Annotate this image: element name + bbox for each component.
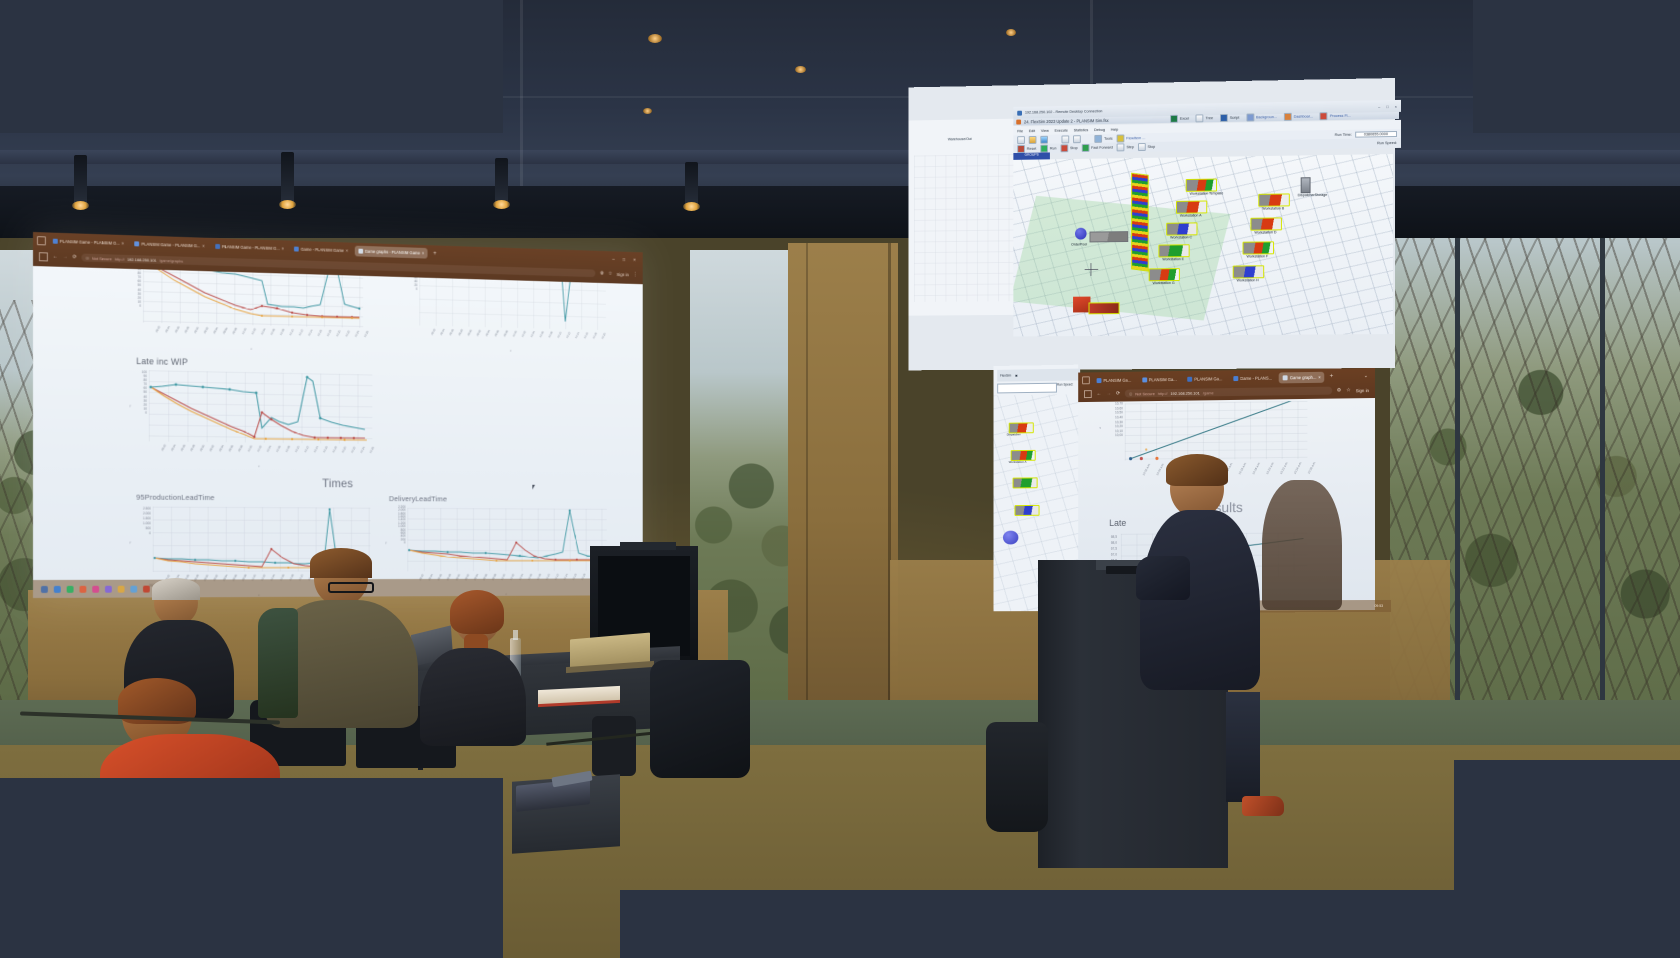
- late-inc-wip-x-axis: 09:4209:44 09:4609:48 09:5009:52 09:5409…: [149, 443, 373, 467]
- dlt-y-label: y: [385, 541, 386, 545]
- plansim-favicon: [294, 247, 299, 252]
- url-scheme: http://: [1158, 390, 1168, 395]
- workstation-c-object[interactable]: [1166, 222, 1197, 235]
- list-all-tabs-icon[interactable]: [37, 236, 46, 245]
- workstation-d-object[interactable]: [1250, 217, 1282, 230]
- tab-label: Game graphs - PLANSIM Game: [365, 249, 420, 256]
- wip-y-axis: 6040200: [408, 275, 417, 291]
- pendant-lamp-2: [281, 152, 294, 204]
- remote-desktop-icon: [1017, 110, 1022, 115]
- workstation-b-object[interactable]: [1258, 193, 1290, 206]
- presenter-hair: [1166, 454, 1228, 486]
- flexsim-icon: [1016, 120, 1021, 125]
- loudspeaker-top: [620, 542, 676, 550]
- presenter-shoe: [1242, 796, 1284, 816]
- taskbar-app-1-icon[interactable]: [54, 585, 61, 592]
- browser-tab[interactable]: Game - PLANSIM Game ×: [290, 244, 351, 257]
- maximize-button[interactable]: □: [623, 257, 626, 263]
- late-plot: [143, 266, 363, 328]
- ceiling-seam-a: [520, 0, 523, 186]
- bookmark-star-icon[interactable]: ☆: [608, 271, 612, 277]
- workstation-e-label: Workstation E: [1162, 257, 1184, 261]
- toolbar-tree[interactable]: Tree: [1196, 114, 1213, 122]
- workstation-g-label: Workstation G: [1153, 281, 1175, 285]
- tools-icon: [1094, 135, 1102, 143]
- play-icon: [1040, 145, 1048, 153]
- menu-file[interactable]: File: [1017, 129, 1023, 133]
- pendant-lamp-3: [495, 158, 508, 204]
- rdp-left-grid: [914, 154, 1013, 302]
- run-button[interactable]: Run: [1040, 144, 1056, 152]
- dispatcher-storage-object[interactable]: [1301, 177, 1311, 193]
- stop-icon: [1060, 144, 1068, 152]
- url-host: 192.168.250.101: [1170, 390, 1199, 395]
- late-inc-wip-y-label: y: [129, 404, 130, 408]
- security-label: Not Secure: [92, 255, 112, 261]
- late-x-axis: 09:4209:44 09:4609:48 09:5009:52 09:5409…: [143, 325, 363, 352]
- sliver-ws-a-label: Workstation A: [1009, 460, 1027, 464]
- redo-icon[interactable]: [1073, 135, 1081, 143]
- participant-2-hair: [310, 548, 372, 578]
- crop-band-bottom-far-right: [1454, 760, 1680, 958]
- menu-edit[interactable]: Edit: [1029, 129, 1035, 133]
- crop-band-top-right: [1473, 0, 1680, 133]
- url-bar[interactable]: ☉ Not Secure http:// 192.168.250.101 /ga…: [1125, 387, 1332, 398]
- ceiling-spot-3: [643, 108, 652, 114]
- browser-tab[interactable]: PLANSIM Game - PLANSIM G... ×: [131, 238, 209, 251]
- axis-gizmo-y: [1090, 263, 1091, 276]
- extensions-icon[interactable]: ⚙: [1337, 387, 1341, 393]
- run-speed-label: Run Speed:: [1377, 141, 1397, 145]
- participant-2-glasses: [328, 582, 374, 593]
- sliver-orderpool[interactable]: [1003, 531, 1018, 545]
- plansim-favicon: [1233, 376, 1238, 381]
- plansim-favicon: [53, 239, 58, 244]
- browser-tab-active[interactable]: Game graph...×: [1279, 371, 1325, 383]
- reload-icon[interactable]: ⟳: [1116, 391, 1120, 397]
- rdp-title-text: 192.168.250.102 - Remote Desktop Connect…: [1025, 109, 1103, 114]
- new-icon[interactable]: [1040, 136, 1048, 144]
- new-tab-button[interactable]: +: [1328, 374, 1333, 380]
- menu-statistics[interactable]: Statistics: [1074, 128, 1089, 132]
- chart-favicon: [1283, 375, 1288, 380]
- run-time-label: Run Time:: [1335, 133, 1352, 137]
- toolbar-background[interactable]: Backgroun...: [1246, 113, 1277, 121]
- flexsim-title-text: 24. FlexSim 2023 Update 2 - PLANSIM Sim.…: [1024, 118, 1109, 124]
- plt-y-axis: 2.5002.0001.5001.0005000: [135, 507, 151, 536]
- taskbar-app-3-icon[interactable]: [79, 585, 86, 592]
- late-inc-wip-y-axis: 1009080706050403020100: [135, 370, 147, 415]
- toolbar-script[interactable]: Script: [1220, 113, 1239, 121]
- ceiling-beam: [0, 150, 1680, 164]
- participant-3-hair: [450, 590, 504, 634]
- workstation-template-label: Workstation Template: [1190, 191, 1224, 195]
- pendant-lamp-1: [74, 155, 87, 205]
- wall-panel-center: [788, 243, 898, 743]
- flowitem-stack: [1131, 173, 1149, 272]
- taskbar-clock[interactable]: 09:53: [1375, 604, 1383, 608]
- chart-late-inc-wip: 1009080706050403020100 y: [149, 370, 385, 463]
- chart-favicon: [358, 249, 363, 254]
- step-button[interactable]: Step: [1117, 143, 1134, 151]
- stop2-icon: [1138, 143, 1146, 151]
- sidebar-icon[interactable]: [1084, 390, 1092, 398]
- projection-screen-right-upper: Warehouse/Out 192.168.250.102 - Remote D…: [908, 78, 1395, 370]
- plansim-favicon: [215, 244, 220, 249]
- process-flow-icon: [1320, 112, 1328, 120]
- menu-help[interactable]: Help: [1111, 127, 1119, 131]
- workstation-e-object[interactable]: [1158, 244, 1189, 257]
- browser-tab[interactable]: PLANSIM Ga...: [1093, 374, 1135, 385]
- close-icon[interactable]: ×: [346, 248, 348, 253]
- plansim-favicon: [1142, 377, 1147, 382]
- menu-icon[interactable]: ⋮: [633, 272, 637, 278]
- browser-chrome-right: PLANSIM Ga... PLANSIM Ga... PLANSIM Ga..…: [1078, 368, 1375, 402]
- plansim-favicon: [135, 241, 140, 246]
- ceiling-soffit: [0, 186, 1680, 238]
- stop2-button[interactable]: Stop: [1138, 143, 1155, 151]
- participant-3-torso: [420, 648, 526, 746]
- bag-under-table: [650, 660, 750, 778]
- screenshot-root: PLANSIM Game - PLANSIM G... × PLANSIM Ga…: [0, 0, 1680, 958]
- wip-x-axis: 09:4209:44 09:4609:48 09:5009:52 09:5409…: [419, 327, 606, 352]
- url-path: /game/graphs: [159, 257, 183, 263]
- tab-label: PLANSIM Game - PLANSIM G...: [141, 242, 200, 249]
- run-time-value[interactable]: 0380655.0000: [1355, 131, 1397, 138]
- undo-icon[interactable]: [1061, 135, 1069, 143]
- workstation-c-label: Workstation C: [1170, 235, 1192, 239]
- toolbar-dashboard[interactable]: Dashboar...: [1284, 112, 1313, 120]
- flowitem-icon: [1116, 135, 1124, 143]
- presenter-shadow: [1262, 480, 1342, 610]
- workstation-h-label: Workstation H: [1237, 278, 1259, 282]
- plt-y-label: y: [129, 540, 130, 544]
- workstation-h-object[interactable]: [1233, 265, 1264, 278]
- tab-overflow-icon[interactable]: ⌄: [1364, 373, 1371, 379]
- browser-tab[interactable]: PLANSIM Game - PLANSIM G... ×: [211, 241, 287, 254]
- browser-tab[interactable]: Game - PLANS...: [1229, 372, 1276, 384]
- projection-screen-left: PLANSIM Game - PLANSIM G... × PLANSIM Ga…: [33, 232, 643, 598]
- shield-icon: ☉: [1129, 391, 1132, 396]
- workstation-g-object[interactable]: [1149, 268, 1180, 281]
- workstation-d-label: Workstation D: [1254, 230, 1276, 234]
- arrow-right-icon[interactable]: →: [63, 254, 68, 260]
- crop-band-top-left: [0, 0, 503, 133]
- chart-title-late-inc-wip: Late inc WIP: [136, 356, 188, 367]
- wall-seam-1: [806, 243, 808, 743]
- toolbar-excel[interactable]: Excel: [1170, 114, 1189, 122]
- workstation-b-label: Workstation B: [1262, 206, 1284, 210]
- chair-3: [592, 716, 636, 776]
- account-button[interactable]: Sign in: [617, 272, 629, 277]
- participant-3: [420, 594, 526, 746]
- fast-forward-button[interactable]: Fast Forward: [1081, 144, 1112, 152]
- browser-tab-active[interactable]: Game graphs - PLANSIM Game ×: [355, 246, 428, 259]
- close-icon[interactable]: ×: [122, 241, 124, 246]
- plansim-favicon: [1097, 378, 1102, 383]
- menu-debug[interactable]: Debug: [1094, 127, 1105, 131]
- close-window-button[interactable]: ×: [633, 257, 636, 263]
- flexsim-sliver-label: FlexSim: [1000, 374, 1011, 378]
- security-label: Not Secure: [1135, 391, 1155, 396]
- sliver-dispatcher-label: Dispatcher: [1007, 432, 1021, 436]
- dispatcher-storage-label: DispatcherStorage: [1298, 193, 1327, 197]
- close-icon[interactable]: ×: [1318, 374, 1320, 379]
- participant-1-hair: [152, 578, 200, 600]
- list-all-tabs-icon[interactable]: [1082, 376, 1090, 384]
- save-icon[interactable]: [1017, 136, 1025, 144]
- close-icon[interactable]: ×: [422, 251, 424, 256]
- sink-conveyor[interactable]: [1089, 302, 1120, 314]
- late-section-label: Late: [1109, 518, 1126, 528]
- flexsim-3d-canvas[interactable]: OrderPool Workstation Template Workstati…: [1013, 154, 1393, 336]
- mouse-cursor: [532, 485, 535, 490]
- tab-label: PLANSIM Game - PLANSIM G...: [222, 244, 280, 251]
- chart-title-delivery-lead-time: DeliveryLeadTime: [389, 494, 447, 503]
- ceiling-spot-1: [648, 34, 662, 43]
- backpack: [986, 722, 1048, 832]
- excel-icon: [1170, 114, 1178, 122]
- arrow-left-icon[interactable]: ←: [1097, 391, 1102, 397]
- taskbar-app-2-icon[interactable]: [67, 585, 74, 592]
- pendant-lamp-4: [685, 162, 698, 206]
- url-host: 192.168.250.101: [127, 256, 156, 262]
- presenter-arm: [1136, 556, 1190, 600]
- rdp-left-panel: Warehouse/Out: [908, 119, 1021, 316]
- run-speed-field[interactable]: [997, 383, 1057, 394]
- bookmark-star-icon[interactable]: ☆: [1346, 387, 1350, 393]
- browser-tab[interactable]: PLANSIM Ga...: [1138, 373, 1181, 385]
- browser-tab[interactable]: PLANSIM Game - PLANSIM G... ×: [49, 236, 128, 250]
- sidebar-icon[interactable]: [39, 252, 48, 261]
- extensions-icon[interactable]: ⚙: [600, 271, 604, 277]
- late-y-axis: 1009080706050403020100: [129, 266, 141, 308]
- close-icon[interactable]: ×: [202, 244, 204, 249]
- reset-icon: [1017, 145, 1025, 153]
- toolbar-process-flow[interactable]: Process Fl...: [1320, 111, 1351, 120]
- shield-icon: ☉: [86, 255, 90, 260]
- menu-view[interactable]: View: [1041, 128, 1049, 132]
- dlt-plot: [407, 508, 606, 571]
- workstation-a-label: Workstation A: [1180, 213, 1202, 217]
- results-y-axis: 10,7010,6010,5010,4010,3010,2010,1010,00: [1105, 401, 1122, 438]
- chart-late: 1009080706050403020100: [143, 266, 375, 342]
- arrow-right-icon[interactable]: →: [1106, 391, 1111, 397]
- run-speed-label-2: Run Speed:: [1057, 382, 1073, 386]
- orderpool-object[interactable]: [1075, 228, 1087, 240]
- results-y-label: y: [1100, 425, 1101, 429]
- late-inc-wip-plot: [149, 370, 373, 444]
- menu-execute[interactable]: Execute: [1055, 128, 1068, 132]
- section-title-times: Times: [322, 476, 353, 490]
- process-flow-icon: ▣: [1015, 373, 1018, 377]
- participant-4: [100, 682, 280, 792]
- ceiling-spot-4: [1006, 29, 1016, 36]
- warehouse-out-label: Warehouse/Out: [931, 137, 988, 142]
- reload-icon[interactable]: ⟳: [73, 254, 77, 260]
- close-icon[interactable]: ×: [282, 246, 284, 251]
- new-tab-button[interactable]: +: [431, 251, 437, 257]
- taskbar-app-4-icon[interactable]: [92, 585, 99, 592]
- taskbar-start-icon[interactable]: [41, 585, 48, 592]
- tab-label: Game - PLANSIM Game: [301, 247, 344, 253]
- presenter-legs: [1226, 692, 1260, 802]
- dashboard-icon: [1284, 112, 1292, 120]
- workstation-template-object[interactable]: [1186, 179, 1217, 192]
- background-icon: [1246, 113, 1254, 121]
- step-icon: [1117, 143, 1125, 151]
- fast-forward-icon: [1081, 144, 1089, 152]
- workstation-a-object[interactable]: [1176, 200, 1207, 213]
- workstation-f-label: Workstation F: [1246, 254, 1268, 258]
- plansim-favicon: [1187, 376, 1192, 381]
- sliver-ws-4[interactable]: [1015, 505, 1040, 516]
- arrow-left-icon[interactable]: ←: [53, 254, 58, 260]
- workstation-f-object[interactable]: [1243, 241, 1274, 254]
- ceiling-spot-2: [795, 66, 806, 73]
- minimize-button[interactable]: –: [612, 257, 614, 263]
- rdp-close-button[interactable]: ×: [1395, 103, 1397, 108]
- tree-icon: [1196, 114, 1204, 122]
- browser-tab[interactable]: PLANSIM Ga...: [1184, 373, 1227, 385]
- script-icon: [1220, 113, 1228, 121]
- chart-title-production-lead-time: 95ProductionLeadTime: [136, 493, 214, 502]
- url-path: /game: [1203, 390, 1214, 395]
- account-button[interactable]: Sign in: [1356, 388, 1369, 393]
- open-icon[interactable]: [1029, 136, 1037, 144]
- crop-band-bottom-left: [0, 778, 503, 958]
- sliver-ws-3[interactable]: [1013, 477, 1038, 488]
- tab-label: PLANSIM Game - PLANSIM G...: [60, 239, 120, 246]
- dlt-y-axis: 2.2002.0001.8001.6001.4001.2001.00080060…: [391, 506, 406, 545]
- orderpool-conveyor[interactable]: [1089, 231, 1128, 242]
- orderpool-label: OrderPool: [1071, 242, 1087, 246]
- flexsim-sliver-toolbar: FlexSim ▣: [997, 369, 1080, 382]
- presenter-torso: [1140, 510, 1260, 690]
- url-scheme: http://: [115, 256, 125, 261]
- taskbar-app-5-icon[interactable]: [105, 585, 112, 592]
- stop-button[interactable]: Stop: [1060, 144, 1077, 152]
